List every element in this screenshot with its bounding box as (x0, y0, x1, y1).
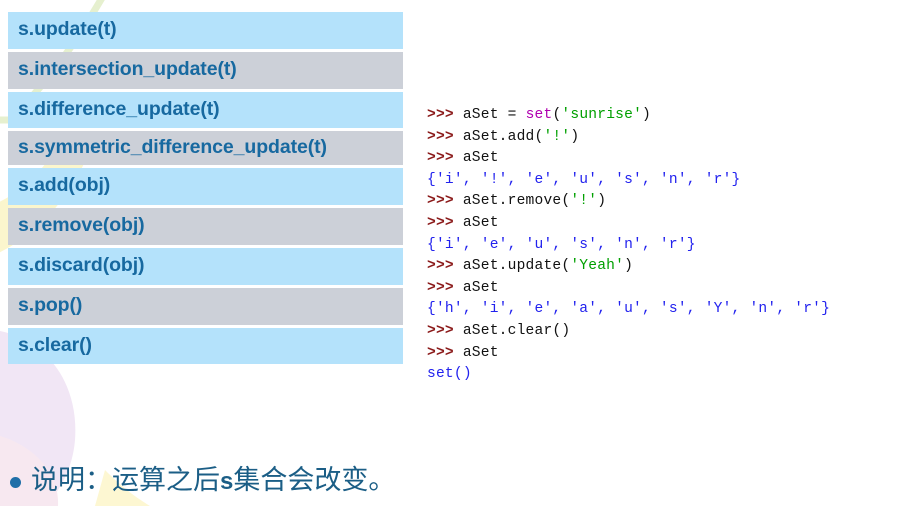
console-input-line: >>> aSet.remove('!') (427, 191, 830, 213)
code-token: aSet (463, 150, 499, 166)
code-token: '!' (570, 193, 597, 209)
prompt-marker: >>> (427, 150, 463, 166)
console-input-line: >>> aSet.clear() (427, 321, 830, 343)
code-token: set (526, 107, 553, 123)
table-row: s.clear() (8, 328, 403, 365)
code-token: 'Yeah' (570, 258, 624, 274)
note-emphasis: s (220, 468, 233, 495)
code-token: ) (570, 129, 579, 145)
console-output-line: {'i', '!', 'e', 'u', 's', 'n', 'r'} (427, 170, 830, 192)
code-token: {'i', 'e', 'u', 's', 'n', 'r'} (427, 237, 696, 253)
code-token: aSet.update( (463, 258, 571, 274)
console-input-line: >>> aSet.update('Yeah') (427, 256, 830, 278)
console-input-line: >>> aSet.add('!') (427, 127, 830, 149)
console-input-line: >>> aSet (427, 278, 830, 300)
code-token: aSet (463, 345, 499, 361)
code-token: '!' (543, 129, 570, 145)
console-input-line: >>> aSet = set('sunrise') (427, 105, 830, 127)
table-row: s.add(obj) (8, 168, 403, 205)
prompt-marker: >>> (427, 129, 463, 145)
code-token: aSet.remove( (463, 193, 571, 209)
code-token: aSet = (463, 107, 526, 123)
console-output-line: {'h', 'i', 'e', 'a', 'u', 's', 'Y', 'n',… (427, 299, 830, 321)
table-row: s.discard(obj) (8, 248, 403, 285)
table-row: s.pop() (8, 288, 403, 325)
code-token: aSet.add( (463, 129, 544, 145)
prompt-marker: >>> (427, 215, 463, 231)
prompt-marker: >>> (427, 345, 463, 361)
python-repl-transcript: >>> aSet = set('sunrise')>>> aSet.add('!… (427, 105, 830, 386)
code-token: aSet (463, 215, 499, 231)
console-input-line: >>> aSet (427, 343, 830, 365)
explanation-note: 说明：运算之后s集合会改变。 (10, 466, 395, 496)
prompt-marker: >>> (427, 193, 463, 209)
code-token: ) (624, 258, 633, 274)
prompt-marker: >>> (427, 280, 463, 296)
code-token: ) (597, 193, 606, 209)
code-token: aSet (463, 280, 499, 296)
table-row: s.intersection_update(t) (8, 52, 403, 89)
prompt-marker: >>> (427, 107, 463, 123)
console-output-line: {'i', 'e', 'u', 's', 'n', 'r'} (427, 235, 830, 257)
prompt-marker: >>> (427, 323, 463, 339)
note-text: 说明：运算之后s集合会改变。 (31, 466, 395, 496)
console-output-line: set() (427, 364, 830, 386)
note-prefix: 说明：运算之后 (31, 465, 220, 495)
prompt-marker: >>> (427, 258, 463, 274)
table-row: s.remove(obj) (8, 208, 403, 245)
table-row: s.symmetric_difference_update(t) (8, 131, 403, 165)
note-suffix: 集合会改变。 (233, 465, 395, 495)
console-input-line: >>> aSet (427, 213, 830, 235)
console-input-line: >>> aSet (427, 148, 830, 170)
table-row: s.update(t) (8, 12, 403, 49)
code-token: {'h', 'i', 'e', 'a', 'u', 's', 'Y', 'n',… (427, 301, 830, 317)
code-token: 'sunrise' (561, 107, 642, 123)
bullet-icon (10, 477, 21, 488)
set-methods-table: s.update(t)s.intersection_update(t)s.dif… (8, 12, 403, 367)
code-token: set() (427, 366, 472, 382)
code-token: aSet.clear() (463, 323, 571, 339)
code-token: ) (642, 107, 651, 123)
table-row: s.difference_update(t) (8, 92, 403, 129)
code-token: {'i', '!', 'e', 'u', 's', 'n', 'r'} (427, 172, 741, 188)
